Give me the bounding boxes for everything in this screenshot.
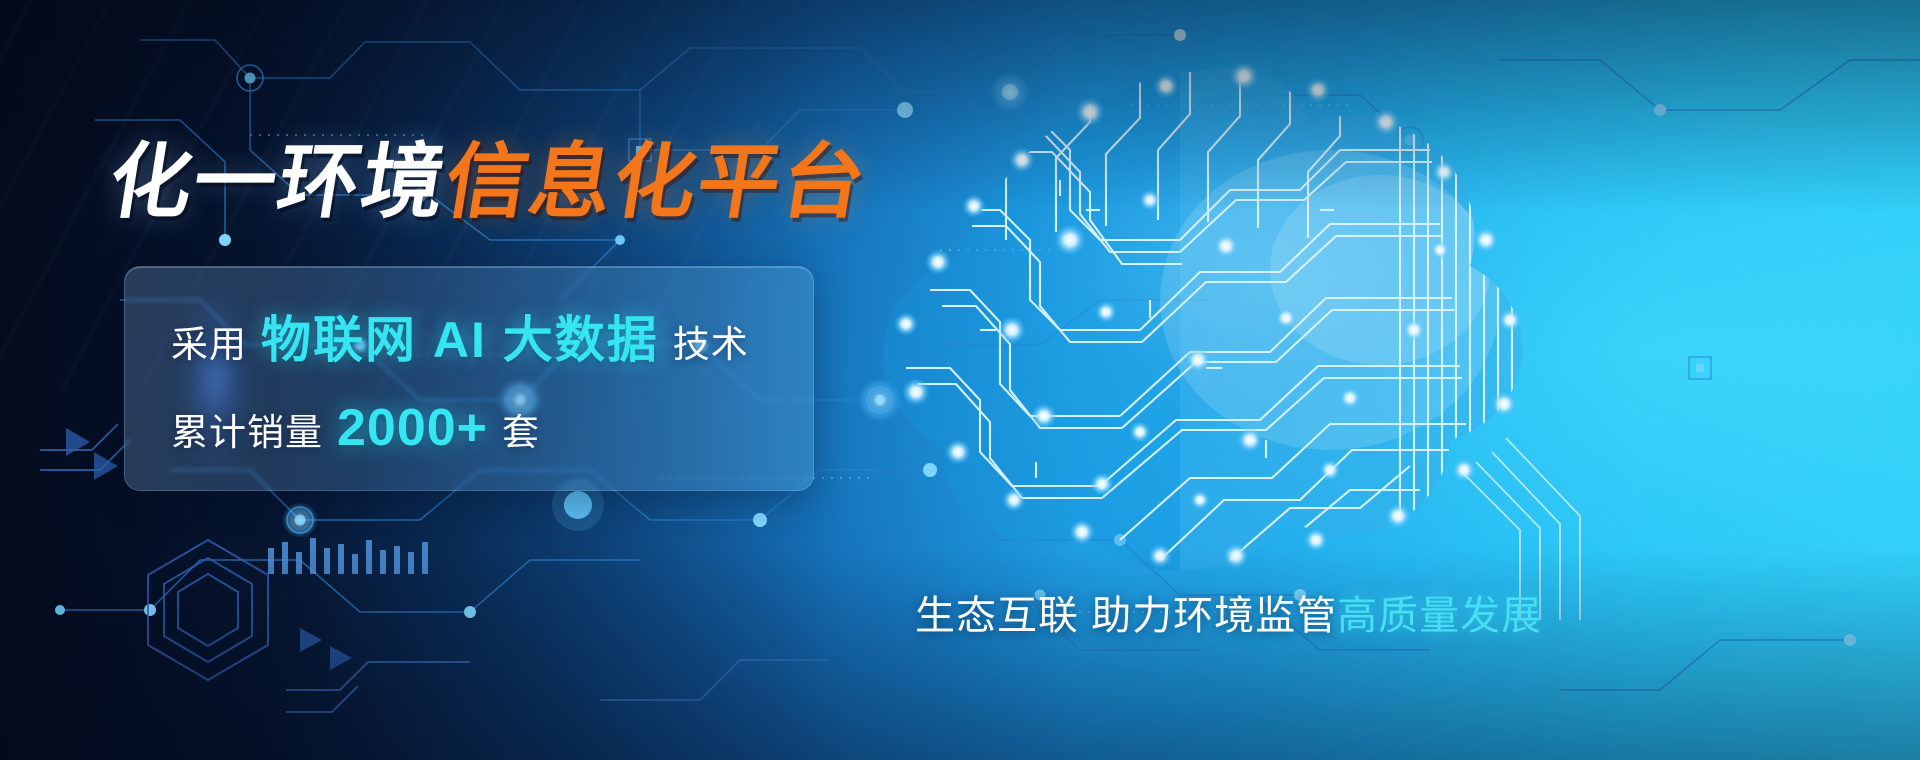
tagline: 生态互联 助力环境监管高质量发展	[915, 583, 1460, 641]
highlights-card: 采用 物联网 AI 大数据 技术 累计销量 2000+ 套	[124, 266, 814, 491]
sales-line: 累计销量 2000+ 套	[171, 398, 767, 458]
page-title: 化一环境信息化平台	[104, 142, 873, 224]
title-white-part: 化一环境	[103, 137, 453, 228]
hero-banner: 化一环境信息化平台 采用 物联网 AI 大数据 技术 累计销量 2000+ 套 …	[0, 0, 1920, 760]
title-orange-part: 信息化平台	[439, 137, 873, 228]
tech-line: 采用 物联网 AI 大数据 技术	[171, 300, 767, 372]
sales-prefix-label: 累计销量	[171, 402, 323, 456]
tech-highlight-label: 物联网 AI 大数据	[261, 300, 659, 372]
tech-suffix-label: 技术	[673, 314, 749, 368]
tagline-white-part: 生态互联 助力环境监管	[915, 594, 1337, 638]
bar-meter-decoration	[268, 538, 428, 574]
brain-ambient-glow	[905, 40, 1595, 510]
sales-unit-label: 套	[502, 402, 540, 456]
sales-count-value: 2000+	[337, 398, 488, 458]
tagline-cyan-part: 高质量发展	[1337, 594, 1542, 638]
tech-prefix-label: 采用	[171, 314, 247, 368]
